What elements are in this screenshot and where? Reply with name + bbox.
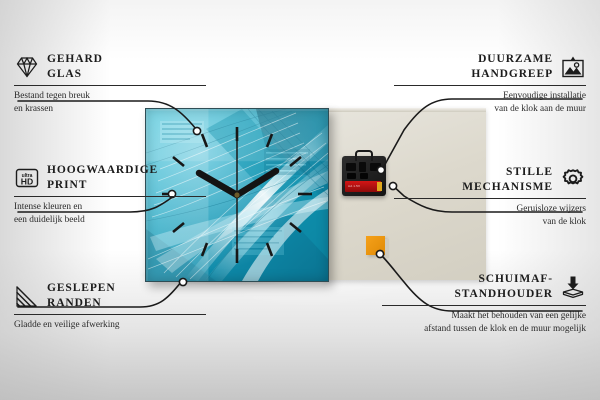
title-underline	[14, 85, 206, 86]
endpoint-schuimafstandhouder	[376, 250, 383, 257]
feature-title: HOOGWAARDIGEPRINT	[47, 163, 158, 192]
framed-picture-hanging-icon	[560, 54, 586, 80]
feature-description: Geruisloze wijzersvan de klok	[394, 203, 586, 229]
beveled-edge-icon	[14, 283, 40, 309]
infographic-canvas: AA 1.5V	[0, 0, 600, 400]
press-down-pad-icon	[560, 274, 586, 300]
title-underline	[394, 198, 586, 199]
feature-hoogwaardige-print: ultra HD HOOGWAARDIGEPRINT Intense kleur…	[14, 163, 206, 227]
feature-gehard-glas: GEHARDGLAS Bestand tegen breuken krassen	[14, 52, 206, 116]
endpoint-duurzame-handgreep	[377, 166, 384, 173]
feature-duurzame-handgreep: DUURZAMEHANDGREEP Eenvoudige installatie…	[394, 52, 586, 116]
title-underline	[382, 305, 586, 306]
feature-title: GESLEPENRANDEN	[47, 281, 116, 310]
ultra-hd-badge-icon: ultra HD	[14, 165, 40, 191]
feature-title: DUURZAMEHANDGREEP	[471, 52, 553, 81]
title-underline	[394, 85, 586, 86]
hd-label: HD	[21, 176, 33, 186]
title-underline	[14, 196, 206, 197]
endpoint-gehard-glas	[193, 127, 200, 134]
feature-stille-mechanisme: STILLEMECHANISME Geruisloze wijzersvan d…	[394, 165, 586, 229]
feature-description: Bestand tegen breuken krassen	[14, 90, 206, 116]
feature-title: STILLEMECHANISME	[462, 165, 553, 194]
feature-description: Intense kleuren eneen duidelijk beeld	[14, 201, 206, 227]
feature-title: SCHUIMAF-STANDHOUDER	[454, 272, 553, 301]
title-underline	[14, 314, 206, 315]
feature-description: Maakt het behouden van een gelijkeafstan…	[382, 310, 586, 336]
feature-schuimafstandhouder: SCHUIMAF-STANDHOUDER Maakt het behouden …	[382, 272, 586, 336]
gear-icon	[560, 167, 586, 193]
feature-description: Eenvoudige installatievan de klok aan de…	[394, 90, 586, 116]
feature-description: Gladde en veilige afwerking	[14, 319, 206, 332]
diamond-icon	[14, 54, 40, 80]
feature-title: GEHARDGLAS	[47, 52, 103, 81]
feature-geslepen-randen: GESLEPENRANDEN Gladde en veilige afwerki…	[14, 281, 206, 332]
